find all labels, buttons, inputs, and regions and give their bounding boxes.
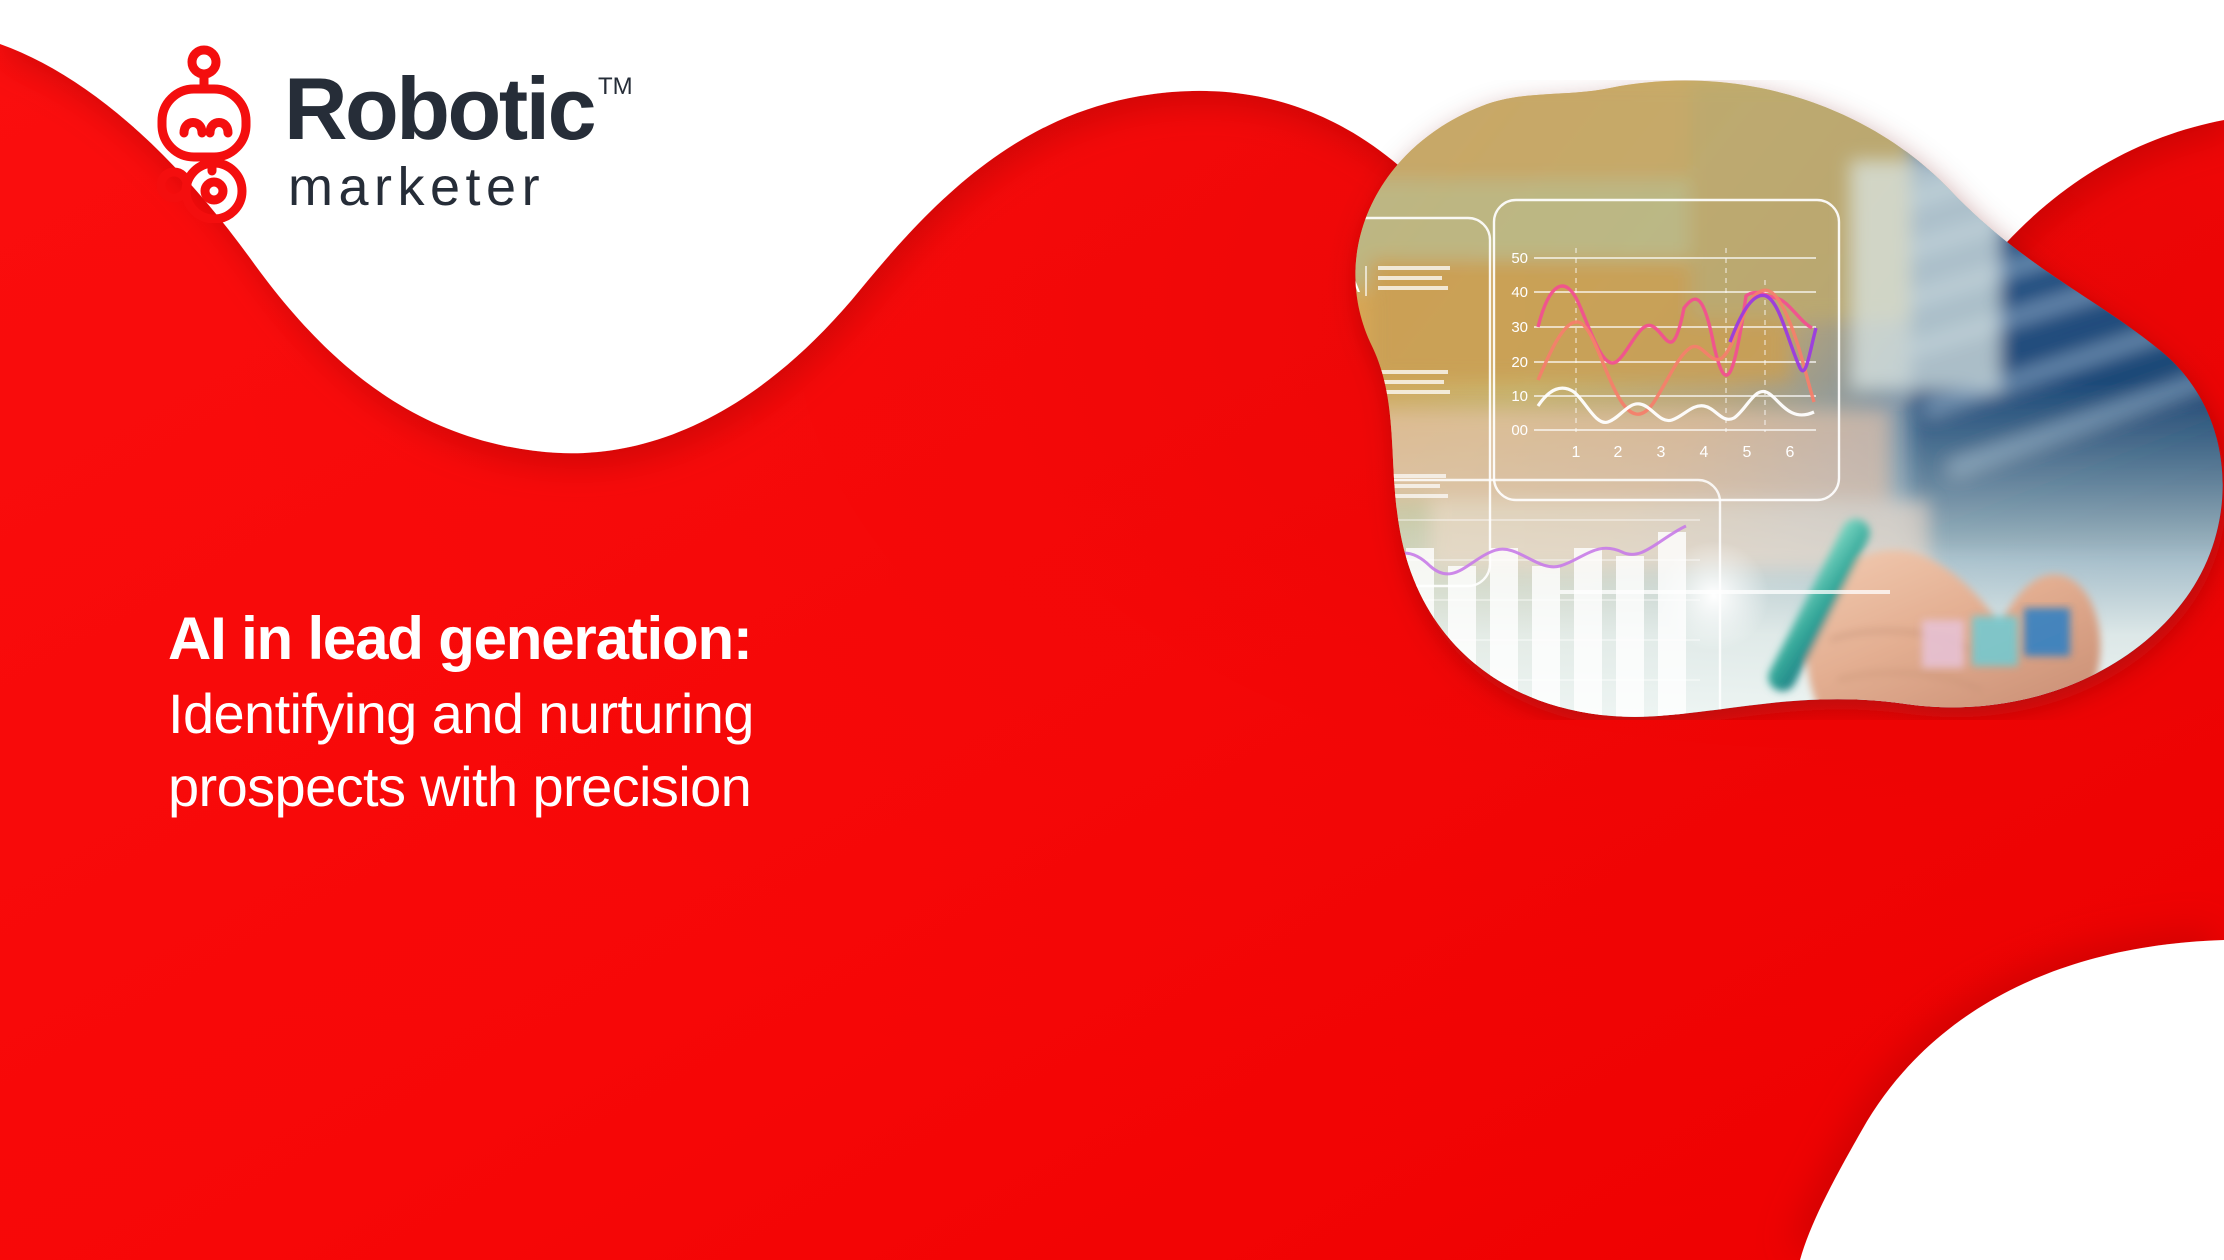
headline-line-3: prospects with precision — [168, 751, 1068, 824]
svg-text:10: 10 — [1511, 388, 1528, 405]
svg-text:4: 4 — [1700, 444, 1709, 461]
svg-text:50: 50 — [1511, 250, 1528, 267]
hero-photo: A B — [1310, 80, 2224, 720]
trademark-symbol: TM — [598, 75, 633, 99]
headline-block: AI in lead generation: Identifying and n… — [168, 600, 1068, 824]
robot-head-icon — [150, 45, 258, 223]
wordmark-main: Robotic — [284, 69, 594, 150]
svg-text:1: 1 — [1572, 444, 1581, 461]
wordmark-sub: marketer — [288, 156, 633, 218]
svg-text:30: 30 — [1511, 319, 1528, 336]
headline-line-1: AI in lead generation: — [168, 600, 1068, 678]
svg-text:6: 6 — [1786, 444, 1795, 461]
svg-text:20: 20 — [1511, 354, 1528, 371]
brand-logo[interactable]: Robotic TM marketer — [150, 45, 633, 223]
svg-text:40: 40 — [1511, 284, 1528, 301]
svg-text:B: B — [1344, 375, 1360, 402]
svg-text:5: 5 — [1743, 444, 1752, 461]
banner-canvas: A B — [0, 0, 2224, 1260]
headline-line-2: Identifying and nurturing — [168, 678, 1068, 751]
svg-text:00: 00 — [1511, 422, 1528, 439]
svg-text:C: C — [1344, 479, 1361, 506]
svg-text:3: 3 — [1657, 444, 1666, 461]
svg-text:A: A — [1344, 271, 1360, 298]
svg-text:2: 2 — [1614, 444, 1623, 461]
